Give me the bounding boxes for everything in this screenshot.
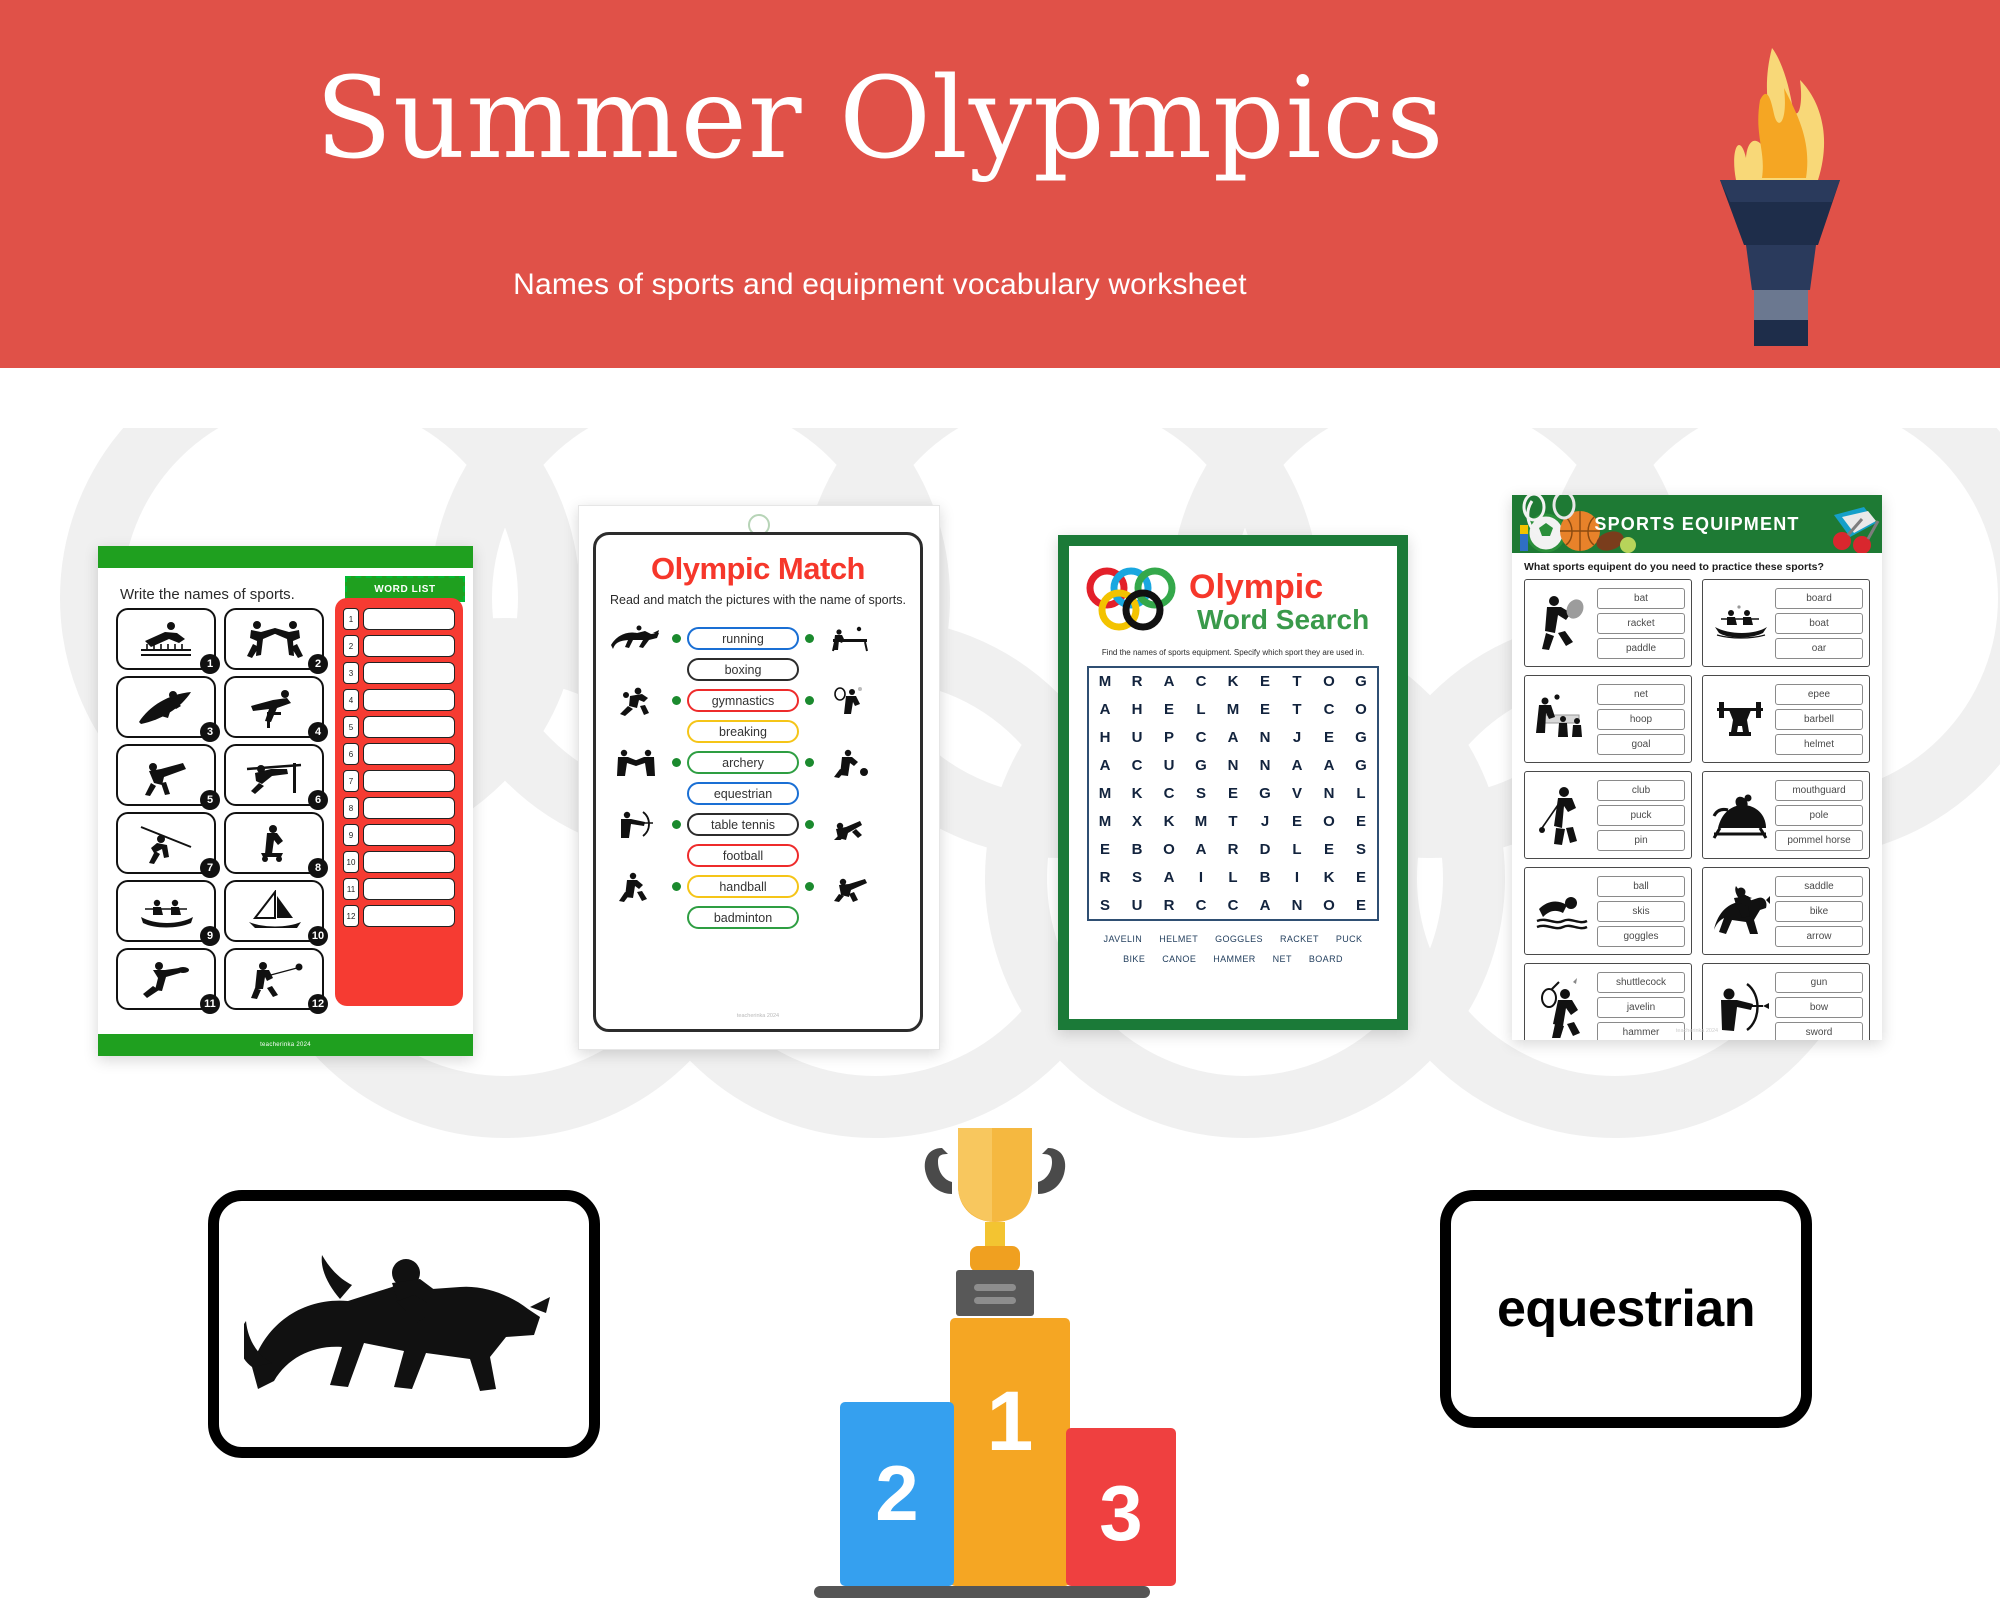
word-search-letter[interactable]: S — [1121, 863, 1153, 891]
match-word-label: football — [723, 849, 763, 863]
equipment-option[interactable]: boat — [1775, 613, 1863, 634]
sheet1-picture-number: 6 — [308, 790, 328, 810]
volleyball-icon — [1531, 681, 1593, 757]
match-row: archery — [606, 747, 916, 778]
match-word-button[interactable]: boxing — [687, 658, 799, 681]
match-dot-left[interactable] — [672, 882, 681, 891]
sheet1-picture-cell: 9 — [116, 880, 216, 942]
word-search-letter[interactable]: V — [1281, 780, 1313, 808]
match-word-button[interactable]: running — [687, 627, 799, 650]
equipment-card: clubpuckpin — [1524, 771, 1692, 859]
list-item[interactable]: 10 — [343, 851, 455, 873]
answer-blank[interactable] — [363, 608, 455, 630]
equipment-card: ballskisgoggles — [1524, 867, 1692, 955]
archery-icon — [606, 809, 666, 840]
breakdance-icon — [820, 871, 880, 902]
word-search-letter[interactable]: M — [1089, 807, 1121, 835]
equipment-option[interactable]: ball — [1597, 876, 1685, 897]
equipment-card: saddlebikearrow — [1702, 867, 1870, 955]
equipment-options: mouthguardpolepommel horse — [1775, 780, 1863, 851]
sheet2-match-rows: running boxing — [606, 623, 916, 933]
hurdles-icon — [135, 619, 197, 659]
word-bank-item: BOARD — [1309, 954, 1343, 964]
word-search-letter[interactable]: E — [1345, 891, 1377, 919]
word-search-letter[interactable]: K — [1217, 668, 1249, 696]
equipment-option[interactable]: javelin — [1597, 997, 1685, 1018]
word-search-letter[interactable]: T — [1281, 696, 1313, 724]
sheet1-picture-cell: 10 — [224, 880, 324, 942]
match-row: badminton — [606, 902, 916, 933]
sheet1-picture-number: 2 — [308, 654, 328, 674]
word-bank-row: JAVELINHELMETGOGGLESRACKETPUCK — [1087, 934, 1379, 944]
word-search-letter[interactable]: S — [1185, 780, 1217, 808]
match-word-button[interactable]: equestrian — [687, 782, 799, 805]
sheet1-picture-grid: 1 2 3 — [116, 608, 326, 1010]
word-search-letter[interactable]: S — [1345, 835, 1377, 863]
match-word-label: handball — [719, 880, 766, 894]
equipment-options: epeebarbellhelmet — [1775, 684, 1863, 755]
word-bank-item: BIKE — [1123, 954, 1145, 964]
gymnastics-icon — [820, 809, 880, 840]
word-search-letter[interactable]: C — [1217, 891, 1249, 919]
word-search-letter[interactable]: C — [1185, 668, 1217, 696]
match-word-button[interactable]: breaking — [687, 720, 799, 743]
sheet4-footer: teacherinka 2024 — [1512, 1028, 1882, 1034]
sheet3-title-line1: Olympic — [1189, 568, 1323, 607]
list-item[interactable]: 8 — [343, 797, 455, 819]
worksheet-thumbnail-write-names-of-sports[interactable]: Write the names of sports. 1 — [98, 546, 473, 1056]
sheet1-prompt: Write the names of sports. — [120, 586, 295, 603]
equipment-option[interactable]: skis — [1597, 901, 1685, 922]
list-number: 10 — [343, 851, 359, 873]
pole-vault-icon — [243, 753, 305, 797]
list-item[interactable]: 11 — [343, 878, 455, 900]
answer-blank[interactable] — [363, 770, 455, 792]
word-search-letter[interactable]: A — [1089, 696, 1121, 724]
golf-icon — [1531, 777, 1593, 853]
equipment-option[interactable]: gun — [1775, 972, 1863, 993]
word-search-grid[interactable]: MRACKETOGAHELMETCOHUPCANJEGACUGNNAAGMKCS… — [1087, 666, 1379, 921]
word-search-letter[interactable]: A — [1281, 752, 1313, 780]
sheet4-title: SPORTS EQUIPMENT — [1594, 514, 1799, 535]
word-search-letter[interactable]: D — [1249, 835, 1281, 863]
list-item[interactable]: 2 — [343, 635, 455, 657]
word-search-letter[interactable]: M — [1217, 696, 1249, 724]
word-search-letter[interactable]: E — [1217, 780, 1249, 808]
word-search-letter[interactable]: G — [1345, 668, 1377, 696]
word-bank-item: HAMMER — [1213, 954, 1255, 964]
word-search-letter[interactable]: E — [1313, 724, 1345, 752]
equipment-option[interactable]: paddle — [1597, 638, 1685, 659]
word-search-letter[interactable]: N — [1313, 780, 1345, 808]
sheet3-instructions: Find the names of sports equipment. Spec… — [1069, 648, 1397, 657]
word-search-letter[interactable]: E — [1281, 807, 1313, 835]
word-bank-item: HELMET — [1159, 934, 1198, 944]
equipment-options: saddlebikearrow — [1775, 876, 1863, 947]
equipment-options: boardboatoar — [1775, 588, 1863, 659]
match-dot-left[interactable] — [672, 634, 681, 643]
list-number: 12 — [343, 905, 359, 927]
match-word-label: running — [722, 632, 764, 646]
list-item[interactable]: 1 — [343, 608, 455, 630]
list-item[interactable]: 12 — [343, 905, 455, 927]
rowing-icon — [135, 891, 197, 931]
word-search-letter[interactable]: U — [1153, 752, 1185, 780]
word-search-letter[interactable]: A — [1249, 891, 1281, 919]
word-search-letter[interactable]: A — [1089, 752, 1121, 780]
equipment-card: batracketpaddle — [1524, 579, 1692, 667]
word-search-letter[interactable]: M — [1089, 780, 1121, 808]
word-search-letter[interactable]: H — [1121, 696, 1153, 724]
breakdance-icon — [135, 753, 197, 797]
word-search-letter[interactable]: E — [1249, 696, 1281, 724]
sheet1-picture-number: 4 — [308, 722, 328, 742]
match-row: breaking — [606, 716, 916, 747]
word-search-letter[interactable]: E — [1345, 807, 1377, 835]
word-search-letter[interactable]: G — [1185, 752, 1217, 780]
match-word-label: badminton — [714, 911, 772, 925]
equipment-card: mouthguardpolepommel horse — [1702, 771, 1870, 859]
word-search-letter[interactable]: T — [1217, 807, 1249, 835]
worksheet-thumbnail-sports-equipment[interactable]: SPORTS EQUIPMENT What sports equipent do… — [1512, 495, 1882, 1040]
word-search-letter[interactable]: M — [1185, 807, 1217, 835]
podium-number-second: 2 — [875, 1449, 918, 1537]
sheet1-picture-number: 10 — [308, 926, 328, 946]
handball-icon — [606, 685, 666, 716]
match-dot-right[interactable] — [805, 696, 814, 705]
answer-blank[interactable] — [363, 743, 455, 765]
match-word-label: breaking — [719, 725, 767, 739]
tennis-player-icon — [1531, 585, 1593, 661]
word-search-letter[interactable]: B — [1249, 863, 1281, 891]
word-search-letter[interactable]: N — [1281, 891, 1313, 919]
match-word-button[interactable]: gymnastics — [687, 689, 799, 712]
sheet4-question: What sports equipent do you need to prac… — [1524, 561, 1824, 573]
answer-blank[interactable] — [363, 635, 455, 657]
sailing-icon — [243, 890, 305, 932]
match-row: handball — [606, 871, 916, 902]
answer-blank[interactable] — [363, 689, 455, 711]
word-search-letter[interactable]: H — [1089, 724, 1121, 752]
boxing-icon — [606, 747, 666, 778]
word-search-letter[interactable]: R — [1089, 863, 1121, 891]
equipment-option[interactable]: saddle — [1775, 876, 1863, 897]
word-search-letter[interactable]: L — [1281, 835, 1313, 863]
word-bank-item: JAVELIN — [1104, 934, 1143, 944]
podium-number-first: 1 — [987, 1374, 1034, 1468]
sheet1-picture-cell: 7 — [116, 812, 216, 874]
match-word-label: table tennis — [711, 818, 775, 832]
match-dot-right[interactable] — [805, 758, 814, 767]
surfing-icon — [135, 686, 197, 728]
flashcard-picture[interactable] — [208, 1190, 600, 1458]
equestrian-icon — [1709, 873, 1771, 949]
list-number: 2 — [343, 635, 359, 657]
equipment-option[interactable]: bow — [1775, 997, 1863, 1018]
word-search-letter[interactable]: C — [1153, 780, 1185, 808]
sheet3-page: Olympic Word Search Find the names of sp… — [1069, 546, 1397, 1019]
sheet1-picture-cell: 1 — [116, 608, 216, 670]
word-search-letter[interactable]: S — [1089, 891, 1121, 919]
word-search-letter[interactable]: U — [1121, 724, 1153, 752]
word-search-letter[interactable]: K — [1121, 780, 1153, 808]
sheet1-top-bar — [98, 546, 473, 568]
sheet4-equipment-cards: batracketpaddleboardboatoarnethoopgoalep… — [1524, 579, 1870, 1040]
equipment-option[interactable]: goggles — [1597, 926, 1685, 947]
match-dot-right[interactable] — [805, 820, 814, 829]
sheet1-picture-cell: 6 — [224, 744, 324, 806]
word-search-letter[interactable]: E — [1345, 863, 1377, 891]
olympic-rings-icon — [1083, 560, 1179, 640]
word-search-letter[interactable]: P — [1153, 724, 1185, 752]
match-word-button[interactable]: handball — [687, 875, 799, 898]
word-search-letter[interactable]: E — [1249, 668, 1281, 696]
list-number: 7 — [343, 770, 359, 792]
football-icon — [820, 747, 880, 778]
word-search-letter[interactable]: J — [1249, 807, 1281, 835]
flashcard-word-text: equestrian — [1497, 1279, 1755, 1339]
word-search-letter[interactable]: C — [1185, 724, 1217, 752]
sheet3-word-bank: JAVELINHELMETGOGGLESRACKETPUCK BIKECANOE… — [1087, 934, 1379, 974]
word-search-letter[interactable]: O — [1313, 807, 1345, 835]
sheet1-picture-number: 12 — [308, 994, 328, 1014]
match-row: equestrian — [606, 778, 916, 809]
word-search-letter[interactable]: J — [1281, 724, 1313, 752]
podium-number-third: 3 — [1099, 1469, 1142, 1557]
equipment-option[interactable]: epee — [1775, 684, 1863, 705]
match-dot-left[interactable] — [672, 696, 681, 705]
word-search-letter[interactable]: L — [1185, 696, 1217, 724]
word-search-letter[interactable]: E — [1089, 835, 1121, 863]
equipment-card: boardboatoar — [1702, 579, 1870, 667]
word-search-letter[interactable]: R — [1217, 835, 1249, 863]
word-search-letter[interactable]: A — [1185, 835, 1217, 863]
match-word-label: archery — [722, 756, 764, 770]
equipment-option[interactable]: mouthguard — [1775, 780, 1863, 801]
sheet1-footer: teacherinka 2024 — [260, 1042, 311, 1048]
sheet1-picture-number: 5 — [200, 790, 220, 810]
worksheet-thumbnail-olympic-match[interactable]: Olympic Match Read and match the picture… — [578, 505, 940, 1050]
list-number: 5 — [343, 716, 359, 738]
answer-blank[interactable] — [363, 716, 455, 738]
sheet2-footer: teacherinka 2024 — [596, 1013, 920, 1019]
match-row: football — [606, 840, 916, 871]
hammer-throw-icon — [243, 958, 305, 1000]
word-search-letter[interactable]: N — [1249, 724, 1281, 752]
word-search-letter[interactable]: O — [1313, 891, 1345, 919]
equipment-options: batracketpaddle — [1597, 588, 1685, 659]
sheet1-picture-cell: 4 — [224, 676, 324, 738]
sheet1-picture-cell: 2 — [224, 608, 324, 670]
match-row: boxing — [606, 654, 916, 685]
sheet2-title: Olympic Match — [596, 551, 920, 587]
canoe-icon — [1709, 585, 1771, 661]
football-player-icon — [606, 871, 666, 902]
match-row: gymnastics — [606, 685, 916, 716]
list-number: 11 — [343, 878, 359, 900]
word-search-letter[interactable]: C — [1185, 891, 1217, 919]
answer-blank[interactable] — [363, 662, 455, 684]
word-search-letter[interactable]: B — [1121, 835, 1153, 863]
word-bank-item: PUCK — [1336, 934, 1363, 944]
sheet1-picture-number: 9 — [200, 926, 220, 946]
word-search-letter[interactable]: E — [1313, 835, 1345, 863]
word-bank-item: GOGGLES — [1215, 934, 1263, 944]
list-item[interactable]: 7 — [343, 770, 455, 792]
equipment-options: ballskisgoggles — [1597, 876, 1685, 947]
word-search-letter[interactable]: C — [1121, 752, 1153, 780]
match-word-button[interactable]: badminton — [687, 906, 799, 929]
answer-blank[interactable] — [363, 905, 455, 927]
word-search-letter[interactable]: U — [1121, 891, 1153, 919]
equipment-option[interactable]: oar — [1775, 638, 1863, 659]
hurdle-jump-icon — [243, 686, 305, 728]
sheet1-picture-cell: 8 — [224, 812, 324, 874]
horse-racing-icon — [244, 1239, 564, 1409]
equipment-option[interactable]: bat — [1597, 588, 1685, 609]
match-dot-left[interactable] — [672, 758, 681, 767]
answer-blank[interactable] — [363, 878, 455, 900]
equipment-option[interactable]: board — [1775, 588, 1863, 609]
swimming-icon — [1531, 873, 1593, 949]
list-item[interactable]: 5 — [343, 716, 455, 738]
list-number: 1 — [343, 608, 359, 630]
word-search-letter[interactable]: A — [1217, 724, 1249, 752]
word-search-letter[interactable]: G — [1345, 724, 1377, 752]
sheet1-picture-cell: 5 — [116, 744, 216, 806]
equipment-option[interactable]: helmet — [1775, 734, 1863, 755]
sheet1-picture-number: 1 — [200, 654, 220, 674]
word-search-letter[interactable]: A — [1153, 863, 1185, 891]
equipment-option[interactable]: pin — [1597, 830, 1685, 851]
word-search-letter[interactable]: X — [1121, 807, 1153, 835]
sheet1-picture-cell: 11 — [116, 948, 216, 1010]
sheet1-word-list-panel: 1 2 3 4 5 6 7 8 9 10 11 12 — [335, 598, 463, 1006]
match-word-label: boxing — [725, 663, 762, 677]
match-dot-left[interactable] — [672, 820, 681, 829]
equipment-option[interactable]: bike — [1775, 901, 1863, 922]
list-number: 8 — [343, 797, 359, 819]
match-row: table tennis — [606, 809, 916, 840]
word-search-letter[interactable]: A — [1153, 668, 1185, 696]
match-dot-right[interactable] — [805, 634, 814, 643]
match-word-button[interactable]: table tennis — [687, 813, 799, 836]
word-search-letter[interactable]: L — [1217, 863, 1249, 891]
sheet1-picture-cell: 12 — [224, 948, 324, 1010]
match-word-label: gymnastics — [712, 694, 775, 708]
list-number: 3 — [343, 662, 359, 684]
equipment-option[interactable]: barbell — [1775, 709, 1863, 730]
word-search-letter[interactable]: I — [1281, 863, 1313, 891]
match-word-button[interactable]: football — [687, 844, 799, 867]
sheet1-word-list-label: WORD LIST — [374, 584, 436, 595]
equipment-card: nethoopgoal — [1524, 675, 1692, 763]
table-tennis-icon — [820, 623, 880, 654]
equipment-option[interactable]: puck — [1597, 805, 1685, 826]
list-number: 4 — [343, 689, 359, 711]
sheet4-header: SPORTS EQUIPMENT — [1512, 495, 1882, 553]
answer-blank[interactable] — [363, 824, 455, 846]
sheet1-picture-number: 3 — [200, 722, 220, 742]
horse-racing-icon — [606, 623, 666, 654]
sheet1-picture-number: 11 — [200, 994, 220, 1014]
answer-blank[interactable] — [363, 797, 455, 819]
answer-blank[interactable] — [363, 851, 455, 873]
word-search-letter[interactable]: C — [1313, 696, 1345, 724]
equipment-option[interactable]: pommel horse — [1775, 830, 1863, 851]
word-search-letter[interactable]: M — [1089, 668, 1121, 696]
word-search-letter[interactable]: N — [1249, 752, 1281, 780]
weightlifting-icon — [1709, 681, 1771, 757]
equipment-options: clubpuckpin — [1597, 780, 1685, 851]
word-search-letter[interactable]: R — [1153, 891, 1185, 919]
match-dot-left — [672, 665, 681, 674]
word-search-letter[interactable]: R — [1121, 668, 1153, 696]
equipment-option[interactable]: club — [1597, 780, 1685, 801]
equipment-card: epeebarbellhelmet — [1702, 675, 1870, 763]
sheet1-picture-number: 7 — [200, 858, 220, 878]
word-search-letter[interactable]: L — [1345, 780, 1377, 808]
equipment-option[interactable]: racket — [1597, 613, 1685, 634]
match-word-button[interactable]: archery — [687, 751, 799, 774]
list-item[interactable]: 9 — [343, 824, 455, 846]
word-search-letter[interactable]: K — [1153, 807, 1185, 835]
equipment-option[interactable]: arrow — [1775, 926, 1863, 947]
match-row: running — [606, 623, 916, 654]
match-word-label: equestrian — [714, 787, 772, 801]
list-item[interactable]: 6 — [343, 743, 455, 765]
winners-podium: 1 2 3 — [780, 1100, 1180, 1600]
javelin-icon — [135, 821, 197, 865]
equipment-option[interactable]: pole — [1775, 805, 1863, 826]
list-item[interactable]: 3 — [343, 662, 455, 684]
sheet1-picture-cell: 3 — [116, 676, 216, 738]
equipment-option[interactable]: shuttlecock — [1597, 972, 1685, 993]
word-search-letter[interactable]: O — [1313, 668, 1345, 696]
word-search-letter[interactable]: A — [1313, 752, 1345, 780]
worksheet-thumbnail-olympic-word-search[interactable]: Olympic Word Search Find the names of sp… — [1058, 535, 1408, 1030]
list-number: 6 — [343, 743, 359, 765]
match-dot-right — [805, 665, 814, 674]
word-search-letter[interactable]: I — [1185, 863, 1217, 891]
word-search-letter[interactable]: G — [1345, 752, 1377, 780]
badminton-icon — [820, 685, 880, 716]
sheet3-title-line2: Word Search — [1197, 604, 1369, 636]
list-number: 9 — [343, 824, 359, 846]
word-search-letter[interactable]: E — [1153, 696, 1185, 724]
word-search-letter[interactable]: T — [1281, 668, 1313, 696]
equipment-option[interactable]: net — [1597, 684, 1685, 705]
word-bank-item: CANOE — [1162, 954, 1196, 964]
list-item[interactable]: 4 — [343, 689, 455, 711]
equipment-option[interactable]: goal — [1597, 734, 1685, 755]
equipment-options: nethoopgoal — [1597, 684, 1685, 755]
word-search-letter[interactable]: O — [1153, 835, 1185, 863]
sheet1-bottom-bar: teacherinka 2024 — [98, 1034, 473, 1056]
word-search-letter[interactable]: K — [1313, 863, 1345, 891]
word-bank-item: NET — [1273, 954, 1292, 964]
taekwondo-icon — [241, 618, 307, 660]
flashcard-word[interactable]: equestrian — [1440, 1190, 1812, 1428]
equipment-option[interactable]: hoop — [1597, 709, 1685, 730]
trophy-icon — [925, 1128, 1065, 1316]
word-search-letter[interactable]: O — [1345, 696, 1377, 724]
word-search-letter[interactable]: N — [1217, 752, 1249, 780]
match-dot-right[interactable] — [805, 882, 814, 891]
discus-icon — [135, 958, 197, 1000]
sheet2-subtitle: Read and match the pictures with the nam… — [596, 593, 920, 607]
word-search-letter[interactable]: G — [1249, 780, 1281, 808]
